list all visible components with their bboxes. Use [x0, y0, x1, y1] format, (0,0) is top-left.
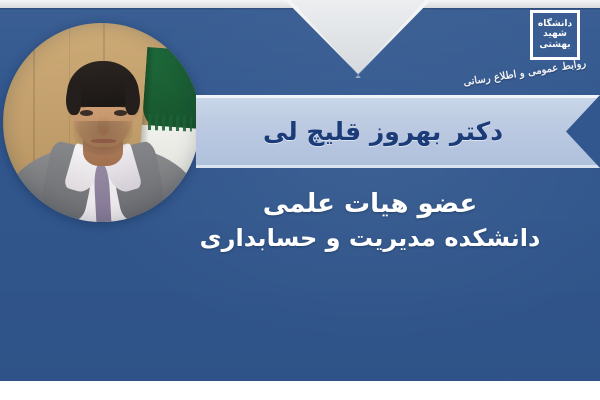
mouth	[91, 139, 116, 143]
portrait-photo	[3, 23, 200, 222]
hair-side-left	[66, 83, 81, 115]
logo-line-1: دانشگاه	[538, 20, 572, 29]
avatar	[3, 23, 200, 222]
logo-line-2: شهید	[543, 30, 567, 39]
university-logo: دانشگاه شهید بهشتی روابط عمومی و اطلاع ر…	[492, 6, 588, 98]
person-name: دکتر بهروز قلیچ لی	[196, 95, 600, 168]
logo-line-3: بهشتی	[539, 41, 570, 50]
eye-left	[80, 110, 93, 116]
logo-frame-text: دانشگاه شهید بهشتی	[533, 13, 577, 57]
hair-side-right	[125, 83, 140, 115]
nose	[98, 115, 109, 135]
logo-frame: دانشگاه شهید بهشتی	[530, 10, 580, 60]
eye-right	[114, 110, 127, 116]
profile-card: دکتر بهروز قلیچ لی عضو هیات علمی دانشکده…	[0, 0, 600, 400]
person-position: عضو هیات علمی	[190, 188, 550, 221]
person-department: دانشکده مدیریت و حسابداری	[190, 223, 550, 254]
title-block: عضو هیات علمی دانشکده مدیریت و حسابداری	[190, 188, 550, 254]
portrait-subject	[3, 23, 200, 222]
name-ribbon: دکتر بهروز قلیچ لی	[196, 95, 600, 168]
